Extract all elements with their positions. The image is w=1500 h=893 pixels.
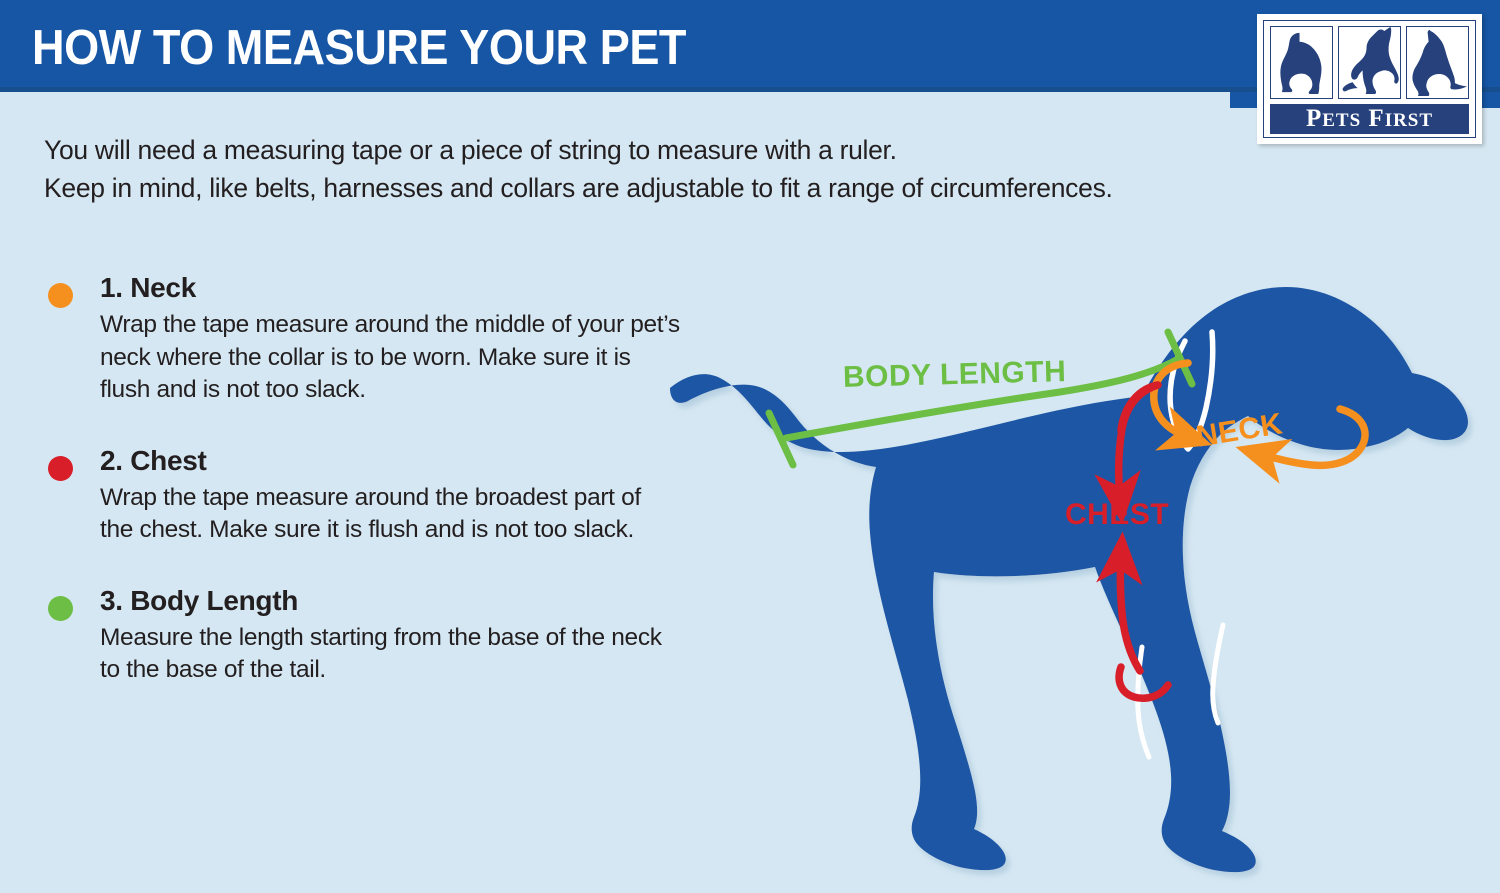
logo-wordmark-text: PETS FIRST [1306,105,1433,133]
step-bullet-dot-neck [48,283,73,308]
step-body-chest: Wrap the tape measure around the broades… [100,482,680,547]
step-bullet-dot-chest [48,456,73,481]
measurement-steps-list: 1. Neck Wrap the tape measure around the… [42,272,682,725]
logo-wordmark-irst: IRST [1385,110,1433,131]
logo-wordmark: PETS FIRST [1270,104,1469,134]
dog-silhouette [670,287,1468,872]
step-body-neck: Wrap the tape measure around the middle … [100,309,680,407]
step-bullet-dot-body-length [48,596,73,621]
step-title-neck: 1. Neck [100,272,682,304]
step-item-chest: 2. Chest Wrap the tape measure around th… [42,445,682,547]
step-item-body-length: 3. Body Length Measure the length starti… [42,585,682,687]
logo-dog-sitting-icon [1270,26,1333,99]
logo-wordmark-ets: ETS [1322,110,1361,131]
page-title: HOW TO MEASURE YOUR PET [32,20,686,76]
dog-front-leg-back-outline [1213,625,1223,723]
pets-first-logo: PETS FIRST [1257,14,1482,144]
intro-line-2: Keep in mind, like belts, harnesses and … [44,170,1113,208]
dog-measurement-diagram: BODY LENGTH NECK CHEST [640,215,1500,893]
step-title-chest: 2. Chest [100,445,682,477]
step-title-body-length: 3. Body Length [100,585,682,617]
logo-dog-howling-icon [1338,26,1401,99]
diagram-label-body-length: BODY LENGTH [843,355,1067,395]
step-body-body-length: Measure the length starting from the bas… [100,622,680,687]
diagram-label-chest: CHEST [1065,498,1169,532]
step-item-neck: 1. Neck Wrap the tape measure around the… [42,272,682,407]
logo-dog-sitting-tail-icon [1406,26,1469,99]
intro-text: You will need a measuring tape or a piec… [44,132,1113,207]
intro-line-1: You will need a measuring tape or a piec… [44,132,1113,170]
